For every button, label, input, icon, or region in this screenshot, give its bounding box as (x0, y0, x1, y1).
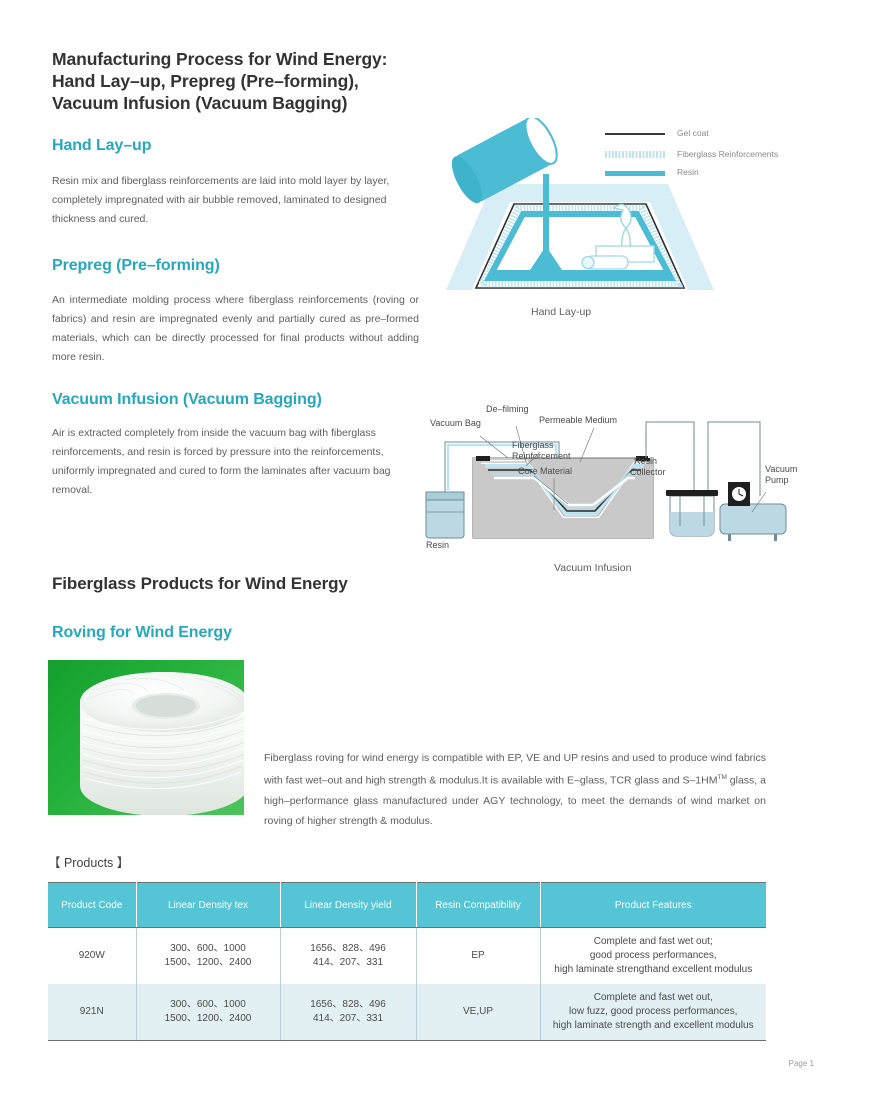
vacuum-label-permeable-medium: Permeable Medium (539, 415, 617, 426)
table-header-row: Product Code Linear Density tex Linear D… (48, 883, 766, 928)
section-heading-hand-layup: Hand Lay–up (52, 137, 151, 155)
yield-line-1: 1656、828、496 (285, 942, 412, 956)
yield-line-2: 414、207、331 (285, 956, 412, 970)
section-body-hand-layup: Resin mix and fiberglass reinforcements … (52, 172, 419, 229)
cell-product-code: 921N (48, 984, 136, 1041)
cell-linear-density-yield: 1656、828、496 414、207、331 (280, 928, 416, 985)
section-heading-prepreg: Prepreg (Pre–forming) (52, 257, 220, 275)
column-header-resin-compatibility: Resin Compatibility (416, 883, 540, 928)
tex-line-2: 1500、1200、2400 (141, 956, 276, 970)
vacuum-label-vacuum-bag: Vacuum Bag (430, 418, 481, 429)
tex-line-1: 300、600、1000 (141, 942, 276, 956)
products-table: Product Code Linear Density tex Linear D… (48, 882, 766, 1041)
tex-line-1: 300、600、1000 (141, 998, 276, 1012)
fiberglass-roving-spool-graphic (74, 666, 244, 815)
section-body-prepreg: An intermediate molding process where fi… (52, 291, 419, 367)
title-line-1: Manufacturing Process for Wind Energy: (52, 48, 522, 70)
feature-line-1: Complete and fast wet out, (545, 991, 763, 1005)
tex-line-2: 1500、1200、2400 (141, 1012, 276, 1026)
hand-layup-illustration (430, 118, 870, 318)
yield-line-2: 414、207、331 (285, 1012, 412, 1026)
column-header-product-features: Product Features (540, 883, 766, 928)
feature-line-3: high laminate strength and excellent mod… (545, 1019, 763, 1033)
vacuum-infusion-caption: Vacuum Infusion (554, 562, 631, 574)
vacuum-label-core-material: Core Material (518, 466, 572, 477)
cell-resin-compatibility: EP (416, 928, 540, 985)
vacuum-label-reinforcement: Reinforcement (512, 451, 571, 462)
legend-label-gel-coat: Gel coat (677, 128, 709, 138)
column-header-linear-density-yield: Linear Density yield (280, 883, 416, 928)
feature-line-3: high laminate strengthand excellent modu… (545, 963, 763, 977)
vacuum-label-vacuum-pump-2: Pump (765, 475, 789, 486)
cell-product-features: Complete and fast wet out; good process … (540, 928, 766, 985)
vacuum-label-vacuum-pump-1: Vacuum (765, 464, 797, 475)
table-row: 921N 300、600、1000 1500、1200、2400 1656、82… (48, 984, 766, 1041)
title-line-3: Vacuum Infusion (Vacuum Bagging) (52, 92, 522, 114)
legend-swatch-fiberglass-reinforcements (605, 151, 665, 158)
vacuum-infusion-figure: Vacuum Bag De–filming Fiberglass Reinfor… (408, 400, 870, 560)
legend-label-fiberglass-reinforcements: Fiberglass Reinforcements (677, 149, 778, 159)
page-title: Manufacturing Process for Wind Energy: H… (52, 48, 522, 114)
hand-layup-figure: Gel coat Fiberglass Reinforcements Resin (430, 118, 870, 318)
roving-intro-paragraph: Fiberglass roving for wind energy is com… (264, 748, 766, 831)
table-row: 920W 300、600、1000 1500、1200、2400 1656、82… (48, 928, 766, 985)
vacuum-label-resin: Resin (426, 540, 449, 551)
trademark-symbol: TM (717, 774, 726, 781)
cell-resin-compatibility: VE,UP (416, 984, 540, 1041)
legend-swatch-resin (605, 171, 665, 176)
page-footer: Page 1 (789, 1059, 814, 1068)
column-header-product-code: Product Code (48, 883, 136, 928)
vacuum-label-resin-collector-2: Collector (630, 467, 666, 478)
feature-line-2: good process performances, (545, 949, 763, 963)
column-header-linear-density-tex: Linear Density tex (136, 883, 280, 928)
yield-line-1: 1656、828、496 (285, 998, 412, 1012)
legend-label-resin: Resin (677, 167, 699, 177)
cell-linear-density-yield: 1656、828、496 414、207、331 (280, 984, 416, 1041)
cell-product-features: Complete and fast wet out, low fuzz, goo… (540, 984, 766, 1041)
vacuum-label-fiberglass: Fiberglass (512, 440, 554, 451)
products-heading: Fiberglass Products for Wind Energy (52, 574, 348, 594)
section-heading-vacuum-infusion: Vacuum Infusion (Vacuum Bagging) (52, 391, 322, 409)
feature-line-1: Complete and fast wet out; (545, 935, 763, 949)
products-table-label: 【 Products 】 (48, 852, 129, 871)
legend-swatch-gel-coat (605, 133, 665, 135)
roving-photo (48, 660, 244, 815)
cell-product-code: 920W (48, 928, 136, 985)
section-body-vacuum-infusion: Air is extracted completely from inside … (52, 424, 412, 500)
vacuum-label-de-filming: De–filming (486, 404, 529, 415)
document-page: Manufacturing Process for Wind Energy: H… (0, 0, 870, 1120)
vacuum-label-resin-collector-1: Resin (634, 456, 657, 467)
cell-linear-density-tex: 300、600、1000 1500、1200、2400 (136, 984, 280, 1041)
feature-line-2: low fuzz, good process performances, (545, 1005, 763, 1019)
roving-intro-prefix: Fiberglass roving for wind energy is com… (264, 752, 766, 787)
roving-subheading: Roving for Wind Energy (52, 624, 232, 642)
hand-layup-caption: Hand Lay-up (531, 306, 591, 318)
title-line-2: Hand Lay–up, Prepreg (Pre–forming), (52, 70, 522, 92)
cell-linear-density-tex: 300、600、1000 1500、1200、2400 (136, 928, 280, 985)
